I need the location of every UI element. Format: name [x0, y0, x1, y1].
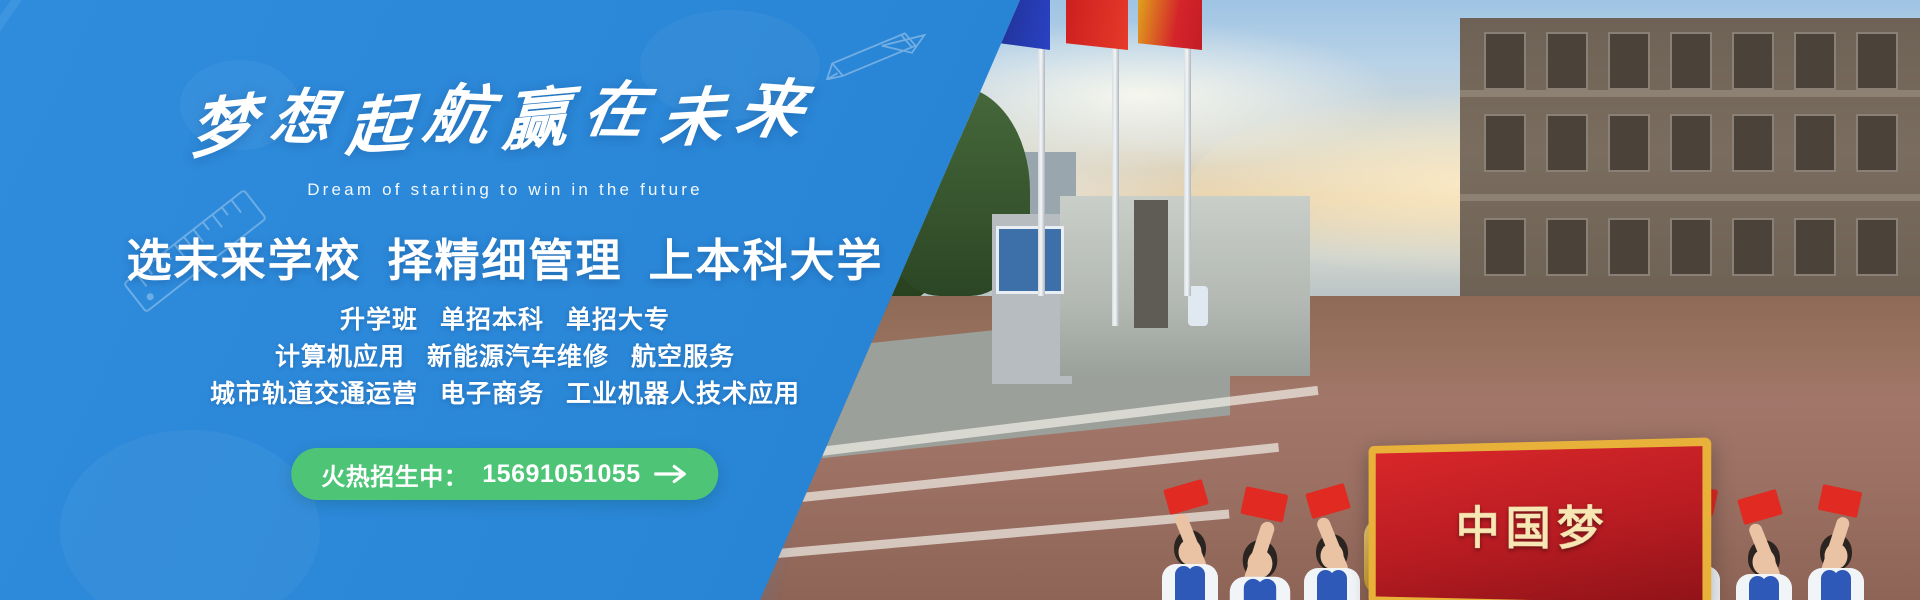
program-item: 航空服务	[631, 342, 735, 371]
program-line-3: 城市轨道交通运营电子商务工业机器人技术应用	[0, 374, 1010, 410]
promo-banner: 中国梦 梦想起航赢在未来 Dream of starting to win in…	[0, 0, 1920, 600]
program-item: 计算机应用	[275, 342, 405, 371]
calligraphy-glyph: 来	[732, 75, 827, 145]
calligraphy-glyph: 未	[657, 84, 743, 151]
program-item: 单招本科	[440, 305, 544, 334]
arrow-right-icon	[655, 464, 689, 484]
calligraphy-glyph: 在	[580, 80, 667, 142]
headline-part: 选未来学校	[126, 235, 361, 286]
page-title: 选未来学校择精细管理上本科大学	[0, 224, 1010, 289]
program-item: 单招大专	[566, 305, 670, 334]
enroll-cta-button[interactable]: 火热招生中： 15691051055	[291, 448, 718, 500]
photo-flag	[1066, 0, 1128, 50]
program-item: 新能源汽车维修	[427, 342, 609, 371]
program-item: 工业机器人技术应用	[566, 379, 800, 408]
photo-pillar	[1134, 200, 1168, 328]
cta-label: 火热招生中：	[321, 457, 468, 492]
program-item: 城市轨道交通运营	[210, 379, 418, 408]
calligraphy-headline: 梦想起航赢在未来	[0, 75, 1016, 158]
headline-part: 上本科大学	[649, 235, 884, 286]
red-banner-text: 中国梦	[1456, 491, 1610, 559]
calligraphy-glyph: 赢	[500, 83, 587, 155]
program-line-2: 计算机应用新能源汽车维修航空服务	[0, 337, 1010, 373]
calligraphy-glyph: 梦	[188, 90, 273, 163]
calligraphy-glyph: 起	[344, 91, 430, 160]
program-item: 升学班	[340, 305, 418, 334]
photo-bottle	[1188, 286, 1208, 326]
calligraphy-glyph: 想	[267, 87, 354, 149]
banner-copy: 梦想起航赢在未来 Dream of starting to win in the…	[0, 0, 1010, 600]
program-line-1: 升学班单招本科单招大专	[0, 300, 1010, 336]
program-item: 电子商务	[440, 379, 544, 408]
cta-phone-number: 15691051055	[482, 460, 640, 489]
headline-part: 择精细管理	[387, 235, 622, 286]
english-subtitle: Dream of starting to win in the future	[0, 180, 1010, 200]
calligraphy-glyph: 航	[420, 82, 513, 150]
photo-flag	[1138, 0, 1202, 50]
photo-red-banner: 中国梦	[1369, 437, 1712, 600]
